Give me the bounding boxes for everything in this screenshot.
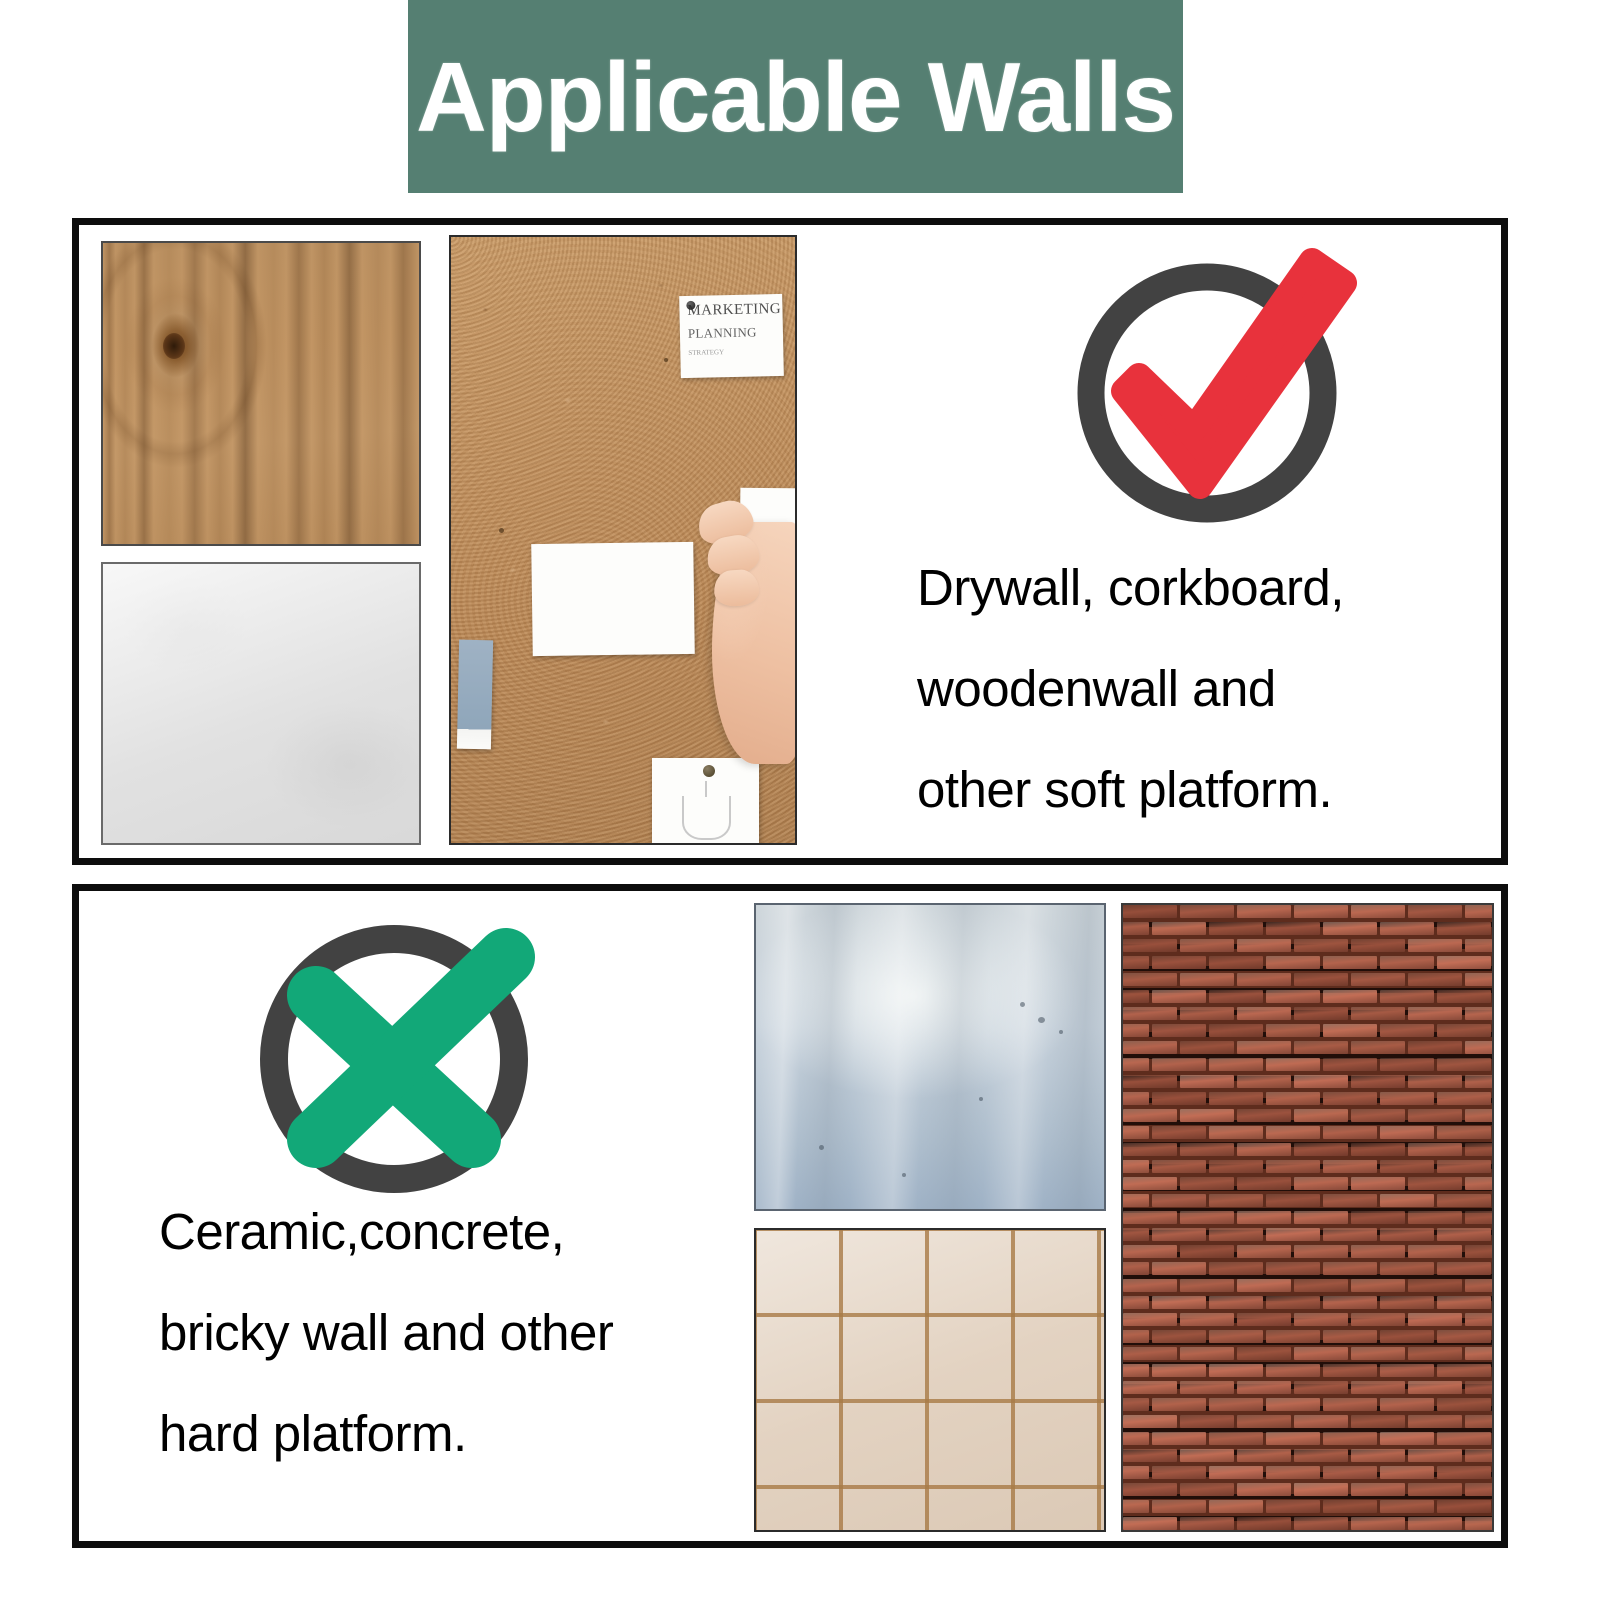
hanger-sketch-icon <box>682 796 731 840</box>
not-applicable-walls-panel: Ceramic,concrete, bricky wall and other … <box>72 884 1508 1548</box>
hanger-note-bottom <box>652 758 759 845</box>
brick-faces <box>1123 905 1492 1530</box>
pushpin-icon <box>703 765 715 777</box>
wooden-wall-swatch <box>101 241 421 546</box>
applicable-walls-panel: MARKETING PLANNING STRATEGY <box>72 218 1508 865</box>
note-line-3: STRATEGY <box>688 347 777 357</box>
title-banner: Applicable Walls <box>408 0 1183 193</box>
page-title: Applicable Walls <box>416 48 1175 146</box>
note-line-2: PLANNING <box>688 324 778 342</box>
not-applicable-caption-line-1: Ceramic,concrete, <box>159 1181 613 1282</box>
applicable-caption-line-1: Drywall, corkboard, <box>917 537 1344 638</box>
finger <box>713 569 760 608</box>
not-applicable-caption: Ceramic,concrete, bricky wall and other … <box>159 1181 613 1484</box>
corkboard-photo: MARKETING PLANNING STRATEGY <box>449 235 797 845</box>
applicable-caption: Drywall, corkboard, woodenwall and other… <box>917 537 1344 840</box>
concrete-fleck <box>819 1145 824 1150</box>
applicable-caption-line-3: other soft platform. <box>917 739 1344 840</box>
brick-wall-swatch <box>1121 903 1494 1532</box>
concrete-fleck <box>979 1097 983 1101</box>
hand-photo <box>712 522 797 764</box>
concrete-fleck <box>902 1173 906 1177</box>
concrete-fleck <box>1059 1030 1063 1034</box>
concrete-fleck <box>1038 1017 1045 1023</box>
note-line-1: MARKETING <box>687 301 777 320</box>
ceramic-tile-swatch <box>754 1228 1106 1532</box>
cross-circle-icon <box>244 907 554 1207</box>
cork-speck <box>499 528 504 533</box>
wood-knot-detail <box>163 333 185 359</box>
blue-note-left <box>457 640 494 750</box>
drywall-swatch <box>101 562 421 845</box>
blank-note-center <box>531 542 694 656</box>
infographic-page: Applicable Walls MARKETING PLANNING STRA… <box>0 0 1601 1601</box>
concrete-swatch <box>754 903 1106 1211</box>
marketing-planning-note: MARKETING PLANNING STRATEGY <box>679 294 784 378</box>
applicable-caption-line-2: woodenwall and <box>917 638 1344 739</box>
not-applicable-caption-line-2: bricky wall and other <box>159 1282 613 1383</box>
not-applicable-caption-line-3: hard platform. <box>159 1383 613 1484</box>
concrete-fleck <box>1020 1002 1025 1007</box>
check-circle-icon <box>1064 243 1364 533</box>
cork-speck <box>664 358 668 362</box>
